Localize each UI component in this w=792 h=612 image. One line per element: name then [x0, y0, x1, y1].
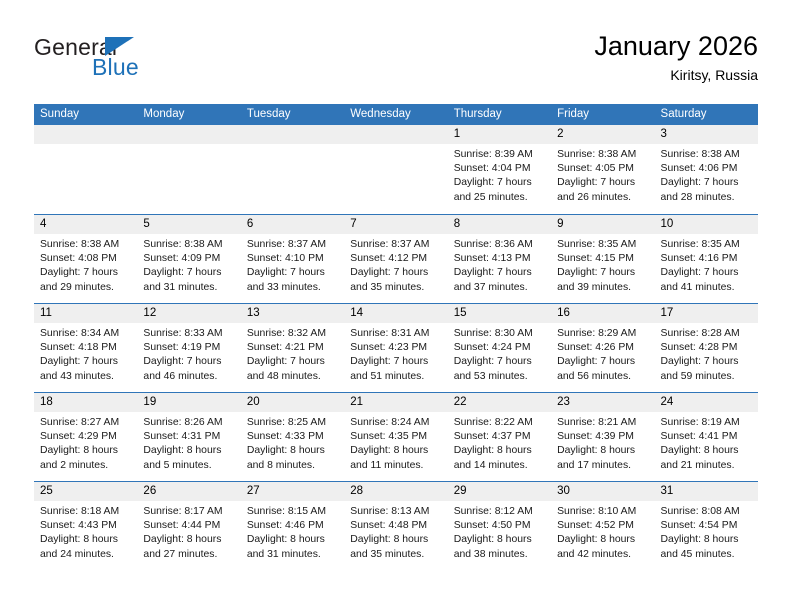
day-number: 9 [551, 215, 654, 234]
day-number: 3 [655, 125, 758, 144]
day-detail-line: Daylight: 8 hours [661, 533, 753, 547]
day-detail-line: Sunrise: 8:38 AM [661, 148, 753, 162]
calendar-page: General Blue January 2026 Kiritsy, Russi… [0, 0, 792, 612]
day-number: 13 [241, 304, 344, 323]
day-cell-26[interactable]: 26Sunrise: 8:17 AMSunset: 4:44 PMDayligh… [137, 482, 240, 570]
day-detail-line: Daylight: 7 hours [557, 355, 649, 369]
day-detail-line: Daylight: 7 hours [661, 355, 753, 369]
day-detail-line: Sunrise: 8:22 AM [454, 416, 546, 430]
day-cell-20[interactable]: 20Sunrise: 8:25 AMSunset: 4:33 PMDayligh… [241, 393, 344, 481]
day-detail-line: Sunset: 4:12 PM [350, 252, 442, 266]
day-detail-line: Sunset: 4:06 PM [661, 162, 753, 176]
day-detail-line: Daylight: 7 hours [350, 355, 442, 369]
page-title: January 2026 [594, 30, 758, 62]
day-cell-24[interactable]: 24Sunrise: 8:19 AMSunset: 4:41 PMDayligh… [655, 393, 758, 481]
day-detail-line: and 28 minutes. [661, 191, 753, 205]
day-details: Sunrise: 8:39 AMSunset: 4:04 PMDaylight:… [448, 144, 551, 205]
day-detail-line: and 14 minutes. [454, 459, 546, 473]
day-detail-line: Daylight: 8 hours [350, 533, 442, 547]
day-detail-line: Sunrise: 8:29 AM [557, 327, 649, 341]
day-details: Sunrise: 8:13 AMSunset: 4:48 PMDaylight:… [344, 501, 447, 562]
day-detail-line: and 59 minutes. [661, 370, 753, 384]
day-cell-23[interactable]: 23Sunrise: 8:21 AMSunset: 4:39 PMDayligh… [551, 393, 654, 481]
day-detail-line: Sunrise: 8:24 AM [350, 416, 442, 430]
day-detail-line: Sunrise: 8:37 AM [350, 238, 442, 252]
day-detail-line: Daylight: 7 hours [40, 266, 132, 280]
day-detail-line: Daylight: 8 hours [247, 533, 339, 547]
day-number: 17 [655, 304, 758, 323]
day-detail-line: and 56 minutes. [557, 370, 649, 384]
day-detail-line: Daylight: 7 hours [557, 266, 649, 280]
day-number: 12 [137, 304, 240, 323]
day-number: 8 [448, 215, 551, 234]
day-cell-4[interactable]: 4Sunrise: 8:38 AMSunset: 4:08 PMDaylight… [34, 215, 137, 303]
day-detail-line: and 43 minutes. [40, 370, 132, 384]
day-details: Sunrise: 8:32 AMSunset: 4:21 PMDaylight:… [241, 323, 344, 384]
day-detail-line: Daylight: 7 hours [661, 176, 753, 190]
day-cell-13[interactable]: 13Sunrise: 8:32 AMSunset: 4:21 PMDayligh… [241, 304, 344, 392]
day-details: Sunrise: 8:10 AMSunset: 4:52 PMDaylight:… [551, 501, 654, 562]
day-of-week-header-row: SundayMondayTuesdayWednesdayThursdayFrid… [34, 104, 758, 125]
day-details: Sunrise: 8:34 AMSunset: 4:18 PMDaylight:… [34, 323, 137, 384]
day-detail-line: and 5 minutes. [143, 459, 235, 473]
day-detail-line: Sunrise: 8:19 AM [661, 416, 753, 430]
day-detail-line: Sunrise: 8:38 AM [557, 148, 649, 162]
day-detail-line: and 39 minutes. [557, 281, 649, 295]
day-of-week-header-monday: Monday [137, 104, 240, 125]
day-detail-line: Sunset: 4:26 PM [557, 341, 649, 355]
day-detail-line: Sunset: 4:05 PM [557, 162, 649, 176]
calendar-week-row: 18Sunrise: 8:27 AMSunset: 4:29 PMDayligh… [34, 392, 758, 481]
day-detail-line: Daylight: 7 hours [247, 266, 339, 280]
day-detail-line: Sunset: 4:04 PM [454, 162, 546, 176]
day-detail-line: and 51 minutes. [350, 370, 442, 384]
day-cell-31[interactable]: 31Sunrise: 8:08 AMSunset: 4:54 PMDayligh… [655, 482, 758, 570]
calendar-grid: SundayMondayTuesdayWednesdayThursdayFrid… [34, 104, 758, 570]
day-detail-line: and 21 minutes. [661, 459, 753, 473]
day-details: Sunrise: 8:37 AMSunset: 4:12 PMDaylight:… [344, 234, 447, 295]
day-of-week-header-sunday: Sunday [34, 104, 137, 125]
day-details: Sunrise: 8:19 AMSunset: 4:41 PMDaylight:… [655, 412, 758, 473]
day-number: 24 [655, 393, 758, 412]
day-detail-line: Daylight: 7 hours [661, 266, 753, 280]
day-details: Sunrise: 8:28 AMSunset: 4:28 PMDaylight:… [655, 323, 758, 384]
day-number [344, 125, 447, 144]
day-detail-line: Sunrise: 8:39 AM [454, 148, 546, 162]
day-details: Sunrise: 8:17 AMSunset: 4:44 PMDaylight:… [137, 501, 240, 562]
day-detail-line: Daylight: 8 hours [454, 533, 546, 547]
calendar-weeks: 1Sunrise: 8:39 AMSunset: 4:04 PMDaylight… [34, 125, 758, 570]
day-details: Sunrise: 8:24 AMSunset: 4:35 PMDaylight:… [344, 412, 447, 473]
day-details: Sunrise: 8:31 AMSunset: 4:23 PMDaylight:… [344, 323, 447, 384]
day-detail-line: Sunrise: 8:18 AM [40, 505, 132, 519]
day-detail-line: and 35 minutes. [350, 548, 442, 562]
day-number: 18 [34, 393, 137, 412]
day-number: 23 [551, 393, 654, 412]
day-number: 30 [551, 482, 654, 501]
day-detail-line: and 27 minutes. [143, 548, 235, 562]
day-of-week-header-saturday: Saturday [655, 104, 758, 125]
day-details: Sunrise: 8:12 AMSunset: 4:50 PMDaylight:… [448, 501, 551, 562]
day-detail-line: Sunrise: 8:28 AM [661, 327, 753, 341]
day-cell-6[interactable]: 6Sunrise: 8:37 AMSunset: 4:10 PMDaylight… [241, 215, 344, 303]
day-detail-line: Sunrise: 8:32 AM [247, 327, 339, 341]
day-detail-line: Sunset: 4:39 PM [557, 430, 649, 444]
day-cell-29[interactable]: 29Sunrise: 8:12 AMSunset: 4:50 PMDayligh… [448, 482, 551, 570]
day-detail-line: Daylight: 8 hours [143, 533, 235, 547]
day-detail-line: Sunrise: 8:36 AM [454, 238, 546, 252]
title-block: January 2026 Kiritsy, Russia [594, 30, 758, 85]
day-detail-line: Sunrise: 8:26 AM [143, 416, 235, 430]
day-cell-18[interactable]: 18Sunrise: 8:27 AMSunset: 4:29 PMDayligh… [34, 393, 137, 481]
day-number: 14 [344, 304, 447, 323]
day-detail-line: Sunset: 4:31 PM [143, 430, 235, 444]
day-detail-line: Daylight: 8 hours [661, 444, 753, 458]
day-detail-line: Sunrise: 8:25 AM [247, 416, 339, 430]
day-cell-15[interactable]: 15Sunrise: 8:30 AMSunset: 4:24 PMDayligh… [448, 304, 551, 392]
logo-text-blue: Blue [92, 54, 139, 81]
day-details: Sunrise: 8:37 AMSunset: 4:10 PMDaylight:… [241, 234, 344, 295]
day-number: 16 [551, 304, 654, 323]
day-detail-line: Daylight: 8 hours [350, 444, 442, 458]
location-subtitle: Kiritsy, Russia [594, 65, 758, 85]
day-detail-line: and 48 minutes. [247, 370, 339, 384]
day-details: Sunrise: 8:33 AMSunset: 4:19 PMDaylight:… [137, 323, 240, 384]
day-details: Sunrise: 8:25 AMSunset: 4:33 PMDaylight:… [241, 412, 344, 473]
day-detail-line: Daylight: 7 hours [454, 266, 546, 280]
day-detail-line: Sunrise: 8:13 AM [350, 505, 442, 519]
day-cell-8[interactable]: 8Sunrise: 8:36 AMSunset: 4:13 PMDaylight… [448, 215, 551, 303]
calendar-week-row: 1Sunrise: 8:39 AMSunset: 4:04 PMDaylight… [34, 125, 758, 214]
day-of-week-header-wednesday: Wednesday [344, 104, 447, 125]
day-detail-line: Sunrise: 8:35 AM [557, 238, 649, 252]
day-detail-line: Daylight: 7 hours [247, 355, 339, 369]
day-detail-line: Sunset: 4:21 PM [247, 341, 339, 355]
calendar-week-row: 25Sunrise: 8:18 AMSunset: 4:43 PMDayligh… [34, 481, 758, 570]
day-detail-line: Sunset: 4:37 PM [454, 430, 546, 444]
day-detail-line: and 26 minutes. [557, 191, 649, 205]
day-detail-line: Sunrise: 8:21 AM [557, 416, 649, 430]
day-detail-line: Sunset: 4:28 PM [661, 341, 753, 355]
day-cell-5[interactable]: 5Sunrise: 8:38 AMSunset: 4:09 PMDaylight… [137, 215, 240, 303]
day-details: Sunrise: 8:38 AMSunset: 4:09 PMDaylight:… [137, 234, 240, 295]
day-cell-27[interactable]: 27Sunrise: 8:15 AMSunset: 4:46 PMDayligh… [241, 482, 344, 570]
day-details: Sunrise: 8:29 AMSunset: 4:26 PMDaylight:… [551, 323, 654, 384]
day-detail-line: Sunrise: 8:10 AM [557, 505, 649, 519]
day-detail-line: Daylight: 8 hours [247, 444, 339, 458]
day-details: Sunrise: 8:08 AMSunset: 4:54 PMDaylight:… [655, 501, 758, 562]
day-number [241, 125, 344, 144]
day-details: Sunrise: 8:27 AMSunset: 4:29 PMDaylight:… [34, 412, 137, 473]
day-cell-9[interactable]: 9Sunrise: 8:35 AMSunset: 4:15 PMDaylight… [551, 215, 654, 303]
day-number: 22 [448, 393, 551, 412]
day-of-week-header-friday: Friday [551, 104, 654, 125]
day-number: 15 [448, 304, 551, 323]
day-cell-empty [344, 125, 447, 214]
day-detail-line: Sunset: 4:54 PM [661, 519, 753, 533]
calendar-week-row: 4Sunrise: 8:38 AMSunset: 4:08 PMDaylight… [34, 214, 758, 303]
day-number: 6 [241, 215, 344, 234]
day-cell-17[interactable]: 17Sunrise: 8:28 AMSunset: 4:28 PMDayligh… [655, 304, 758, 392]
day-number: 5 [137, 215, 240, 234]
day-detail-line: Sunrise: 8:17 AM [143, 505, 235, 519]
day-detail-line: Sunrise: 8:34 AM [40, 327, 132, 341]
day-number [137, 125, 240, 144]
day-detail-line: and 25 minutes. [454, 191, 546, 205]
day-detail-line: Sunset: 4:23 PM [350, 341, 442, 355]
day-detail-line: and 31 minutes. [143, 281, 235, 295]
day-detail-line: and 37 minutes. [454, 281, 546, 295]
day-detail-line: and 45 minutes. [661, 548, 753, 562]
day-detail-line: and 17 minutes. [557, 459, 649, 473]
day-detail-line: Sunset: 4:10 PM [247, 252, 339, 266]
calendar-week-row: 11Sunrise: 8:34 AMSunset: 4:18 PMDayligh… [34, 303, 758, 392]
day-cell-3[interactable]: 3Sunrise: 8:38 AMSunset: 4:06 PMDaylight… [655, 125, 758, 214]
day-details: Sunrise: 8:22 AMSunset: 4:37 PMDaylight:… [448, 412, 551, 473]
day-number: 1 [448, 125, 551, 144]
day-detail-line: Daylight: 8 hours [454, 444, 546, 458]
day-detail-line: Sunrise: 8:30 AM [454, 327, 546, 341]
day-details: Sunrise: 8:38 AMSunset: 4:06 PMDaylight:… [655, 144, 758, 205]
day-details: Sunrise: 8:30 AMSunset: 4:24 PMDaylight:… [448, 323, 551, 384]
day-cell-14[interactable]: 14Sunrise: 8:31 AMSunset: 4:23 PMDayligh… [344, 304, 447, 392]
day-number: 26 [137, 482, 240, 501]
day-detail-line: Sunset: 4:52 PM [557, 519, 649, 533]
day-detail-line: Sunset: 4:29 PM [40, 430, 132, 444]
day-detail-line: Daylight: 7 hours [557, 176, 649, 190]
day-number: 10 [655, 215, 758, 234]
day-detail-line: Sunset: 4:13 PM [454, 252, 546, 266]
day-detail-line: and 41 minutes. [661, 281, 753, 295]
day-number: 27 [241, 482, 344, 501]
day-detail-line: Sunset: 4:09 PM [143, 252, 235, 266]
day-of-week-header-tuesday: Tuesday [241, 104, 344, 125]
day-cell-19[interactable]: 19Sunrise: 8:26 AMSunset: 4:31 PMDayligh… [137, 393, 240, 481]
day-detail-line: and 31 minutes. [247, 548, 339, 562]
day-detail-line: and 38 minutes. [454, 548, 546, 562]
day-detail-line: and 29 minutes. [40, 281, 132, 295]
day-number: 19 [137, 393, 240, 412]
day-detail-line: Sunrise: 8:27 AM [40, 416, 132, 430]
page-header: General Blue January 2026 Kiritsy, Russi… [34, 30, 758, 96]
day-details: Sunrise: 8:15 AMSunset: 4:46 PMDaylight:… [241, 501, 344, 562]
day-detail-line: Sunrise: 8:35 AM [661, 238, 753, 252]
general-blue-logo: General Blue [34, 34, 274, 90]
day-details: Sunrise: 8:35 AMSunset: 4:16 PMDaylight:… [655, 234, 758, 295]
day-detail-line: Sunset: 4:35 PM [350, 430, 442, 444]
day-detail-line: Sunrise: 8:15 AM [247, 505, 339, 519]
day-details: Sunrise: 8:35 AMSunset: 4:15 PMDaylight:… [551, 234, 654, 295]
day-detail-line: Sunset: 4:08 PM [40, 252, 132, 266]
day-cell-30[interactable]: 30Sunrise: 8:10 AMSunset: 4:52 PMDayligh… [551, 482, 654, 570]
day-detail-line: Sunset: 4:43 PM [40, 519, 132, 533]
day-detail-line: Sunrise: 8:31 AM [350, 327, 442, 341]
day-cell-7[interactable]: 7Sunrise: 8:37 AMSunset: 4:12 PMDaylight… [344, 215, 447, 303]
day-detail-line: Daylight: 7 hours [454, 176, 546, 190]
day-details: Sunrise: 8:26 AMSunset: 4:31 PMDaylight:… [137, 412, 240, 473]
day-detail-line: and 24 minutes. [40, 548, 132, 562]
day-detail-line: Sunset: 4:41 PM [661, 430, 753, 444]
day-detail-line: and 53 minutes. [454, 370, 546, 384]
day-number: 31 [655, 482, 758, 501]
day-number: 29 [448, 482, 551, 501]
day-detail-line: and 8 minutes. [247, 459, 339, 473]
day-detail-line: Sunrise: 8:37 AM [247, 238, 339, 252]
day-cell-22[interactable]: 22Sunrise: 8:22 AMSunset: 4:37 PMDayligh… [448, 393, 551, 481]
day-detail-line: Sunset: 4:19 PM [143, 341, 235, 355]
day-cell-2[interactable]: 2Sunrise: 8:38 AMSunset: 4:05 PMDaylight… [551, 125, 654, 214]
day-detail-line: Sunset: 4:33 PM [247, 430, 339, 444]
day-cell-11[interactable]: 11Sunrise: 8:34 AMSunset: 4:18 PMDayligh… [34, 304, 137, 392]
day-detail-line: Daylight: 7 hours [143, 355, 235, 369]
day-cell-10[interactable]: 10Sunrise: 8:35 AMSunset: 4:16 PMDayligh… [655, 215, 758, 303]
day-detail-line: Sunrise: 8:12 AM [454, 505, 546, 519]
day-detail-line: and 46 minutes. [143, 370, 235, 384]
day-cell-1[interactable]: 1Sunrise: 8:39 AMSunset: 4:04 PMDaylight… [448, 125, 551, 214]
day-cell-12[interactable]: 12Sunrise: 8:33 AMSunset: 4:19 PMDayligh… [137, 304, 240, 392]
day-detail-line: Sunset: 4:50 PM [454, 519, 546, 533]
day-cell-empty [34, 125, 137, 214]
day-cell-empty [241, 125, 344, 214]
day-detail-line: Daylight: 8 hours [40, 533, 132, 547]
day-details: Sunrise: 8:21 AMSunset: 4:39 PMDaylight:… [551, 412, 654, 473]
day-detail-line: Sunset: 4:44 PM [143, 519, 235, 533]
day-number: 2 [551, 125, 654, 144]
day-detail-line: Sunset: 4:18 PM [40, 341, 132, 355]
day-detail-line: Daylight: 7 hours [143, 266, 235, 280]
day-detail-line: Daylight: 7 hours [350, 266, 442, 280]
day-details: Sunrise: 8:38 AMSunset: 4:08 PMDaylight:… [34, 234, 137, 295]
day-detail-line: and 2 minutes. [40, 459, 132, 473]
day-number [34, 125, 137, 144]
day-detail-line: Daylight: 8 hours [40, 444, 132, 458]
day-detail-line: and 11 minutes. [350, 459, 442, 473]
day-detail-line: Daylight: 7 hours [40, 355, 132, 369]
day-detail-line: Daylight: 8 hours [557, 533, 649, 547]
day-cell-16[interactable]: 16Sunrise: 8:29 AMSunset: 4:26 PMDayligh… [551, 304, 654, 392]
day-details: Sunrise: 8:36 AMSunset: 4:13 PMDaylight:… [448, 234, 551, 295]
day-number: 21 [344, 393, 447, 412]
day-number: 20 [241, 393, 344, 412]
day-detail-line: Daylight: 7 hours [454, 355, 546, 369]
day-details: Sunrise: 8:38 AMSunset: 4:05 PMDaylight:… [551, 144, 654, 205]
day-cell-empty [137, 125, 240, 214]
day-detail-line: Sunrise: 8:38 AM [40, 238, 132, 252]
day-detail-line: Daylight: 8 hours [143, 444, 235, 458]
day-cell-25[interactable]: 25Sunrise: 8:18 AMSunset: 4:43 PMDayligh… [34, 482, 137, 570]
day-detail-line: and 42 minutes. [557, 548, 649, 562]
day-detail-line: Sunset: 4:16 PM [661, 252, 753, 266]
day-details: Sunrise: 8:18 AMSunset: 4:43 PMDaylight:… [34, 501, 137, 562]
day-number: 11 [34, 304, 137, 323]
day-detail-line: Sunrise: 8:38 AM [143, 238, 235, 252]
day-detail-line: Sunrise: 8:33 AM [143, 327, 235, 341]
day-detail-line: Sunset: 4:48 PM [350, 519, 442, 533]
day-detail-line: Sunset: 4:46 PM [247, 519, 339, 533]
day-detail-line: and 35 minutes. [350, 281, 442, 295]
day-detail-line: Daylight: 8 hours [557, 444, 649, 458]
day-detail-line: Sunset: 4:24 PM [454, 341, 546, 355]
day-of-week-header-thursday: Thursday [448, 104, 551, 125]
day-detail-line: Sunset: 4:15 PM [557, 252, 649, 266]
day-number: 25 [34, 482, 137, 501]
day-detail-line: and 33 minutes. [247, 281, 339, 295]
day-number: 7 [344, 215, 447, 234]
day-cell-21[interactable]: 21Sunrise: 8:24 AMSunset: 4:35 PMDayligh… [344, 393, 447, 481]
day-cell-28[interactable]: 28Sunrise: 8:13 AMSunset: 4:48 PMDayligh… [344, 482, 447, 570]
day-number: 4 [34, 215, 137, 234]
day-detail-line: Sunrise: 8:08 AM [661, 505, 753, 519]
day-number: 28 [344, 482, 447, 501]
